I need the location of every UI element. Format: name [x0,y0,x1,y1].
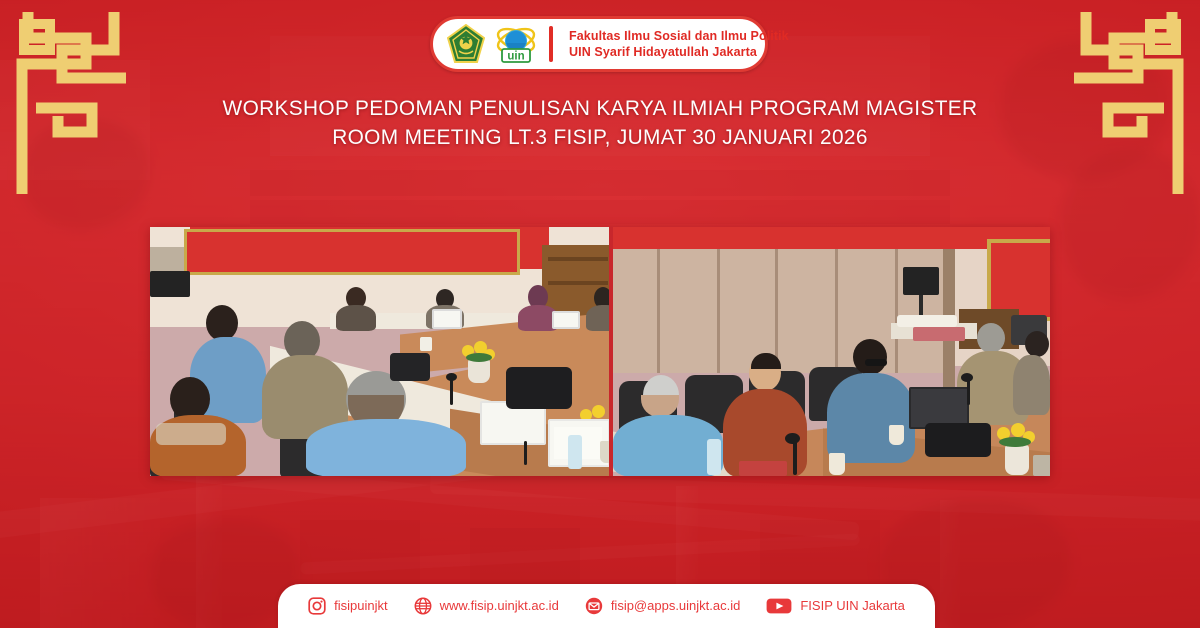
contact-instagram[interactable]: fisipuinjkt [308,597,387,615]
faculty-name: Fakultas Ilmu Sosial dan Ilmu Politik [569,28,789,44]
youtube-icon[interactable] [766,597,792,615]
youtube-channel[interactable]: FISIP UIN Jakarta [800,598,905,614]
photo-left-scene [150,227,609,476]
globe-icon[interactable] [414,597,432,615]
event-title: WORKSHOP PEDOMAN PENULISAN KARYA ILMIAH … [0,94,1200,152]
website-url[interactable]: www.fisip.uinjkt.ac.id [440,598,559,614]
contact-website[interactable]: www.fisip.uinjkt.ac.id [414,597,559,615]
kemenag-logo-icon [447,24,485,64]
meeting-photo-right [613,227,1050,476]
contact-footer: fisipuinjkt www.fisip.uinjkt.ac.id fisip… [278,584,935,628]
photo-gallery [150,227,1050,476]
instagram-icon[interactable] [308,597,326,615]
badge-divider [549,26,553,62]
university-name: UIN Syarif Hidayatullah Jakarta [569,44,789,60]
institution-name: Fakultas Ilmu Sosial dan Ilmu Politik UI… [569,28,789,60]
email-icon[interactable] [585,597,603,615]
instagram-handle[interactable]: fisipuinjkt [334,598,387,614]
contact-email[interactable]: fisip@apps.uinjkt.ac.id [585,597,741,615]
photo-right-scene [613,227,1050,476]
institution-badge: uin Fakultas Ilmu Sosial dan Ilmu Politi… [430,16,768,72]
uin-logo-icon: uin [494,24,538,64]
contact-youtube[interactable]: FISIP UIN Jakarta [766,597,905,615]
svg-text:uin: uin [507,50,524,62]
poster-canvas: uin Fakultas Ilmu Sosial dan Ilmu Politi… [0,0,1200,628]
event-title-line2: ROOM MEETING LT.3 FISIP, JUMAT 30 JANUAR… [18,123,1182,152]
event-title-line1: WORKSHOP PEDOMAN PENULISAN KARYA ILMIAH … [18,94,1182,123]
meeting-photo-left [150,227,609,476]
email-address[interactable]: fisip@apps.uinjkt.ac.id [611,598,741,614]
